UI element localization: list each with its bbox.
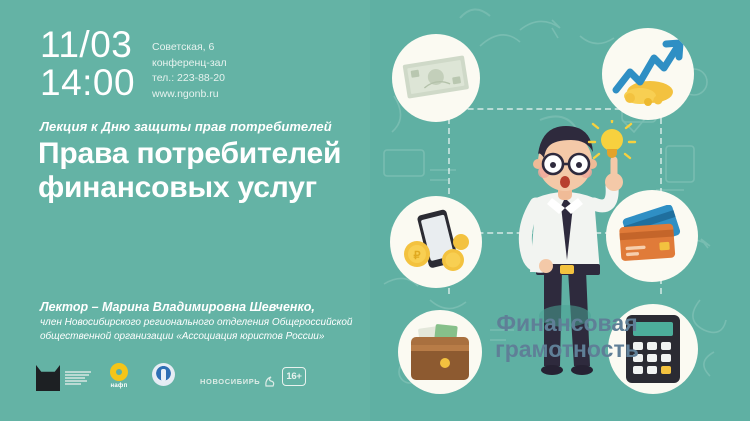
venue-website[interactable]: www.ngonb.ru [152,87,227,103]
age-rating-badge: 16+ [282,367,306,386]
growth-chart-icon [602,28,694,120]
venue-hall: конференц-зал [152,56,227,72]
blue-emblem-logo [152,363,175,386]
event-date: 11/03 [40,26,135,64]
poster: ₽ [0,0,750,421]
logo-strip: нафп НОВОСИБИРЬ 16+ [36,363,326,397]
owl-icon [36,365,60,391]
page-title: Права потребителей финансовых услуг [38,137,368,204]
venue-info: Советская, 6 конференц-зал тел.: 223-88-… [152,40,227,102]
event-datetime: 11/03 14:00 [40,26,135,101]
novosibirsk-label: НОВОСИБИРЬ [200,377,260,386]
novosibirsk-logo: НОВОСИБИРЬ [200,374,276,388]
banknote-icon [392,34,480,122]
age-rating-label: 16+ [282,367,306,386]
venue-address: Советская, 6 [152,40,227,56]
ngonb-library-logo [36,365,91,391]
swan-icon [263,374,276,388]
tagline: Финансовая грамотность [437,310,697,362]
lecturer-name: Лектор – Марина Владимировна Шевченко, [40,299,380,315]
nafp-logo: нафп [110,363,128,389]
library-logo-text [65,371,91,385]
lecturer-affiliation: член Новосибирского регионального отделе… [40,316,380,343]
event-time: 14:00 [40,64,135,102]
lecturer-credits: Лектор – Марина Владимировна Шевченко, ч… [40,299,380,343]
event-kicker: Лекция к Дню защиты прав потребителей [40,119,332,134]
nafp-label: нафп [110,383,127,389]
nafp-mark-icon [110,363,128,381]
blue-emblem-icon [152,363,175,386]
venue-phone: тел.: 223-88-20 [152,71,227,87]
svg-text:₽: ₽ [414,250,421,262]
smartphone-coins-icon: ₽ [390,196,482,288]
